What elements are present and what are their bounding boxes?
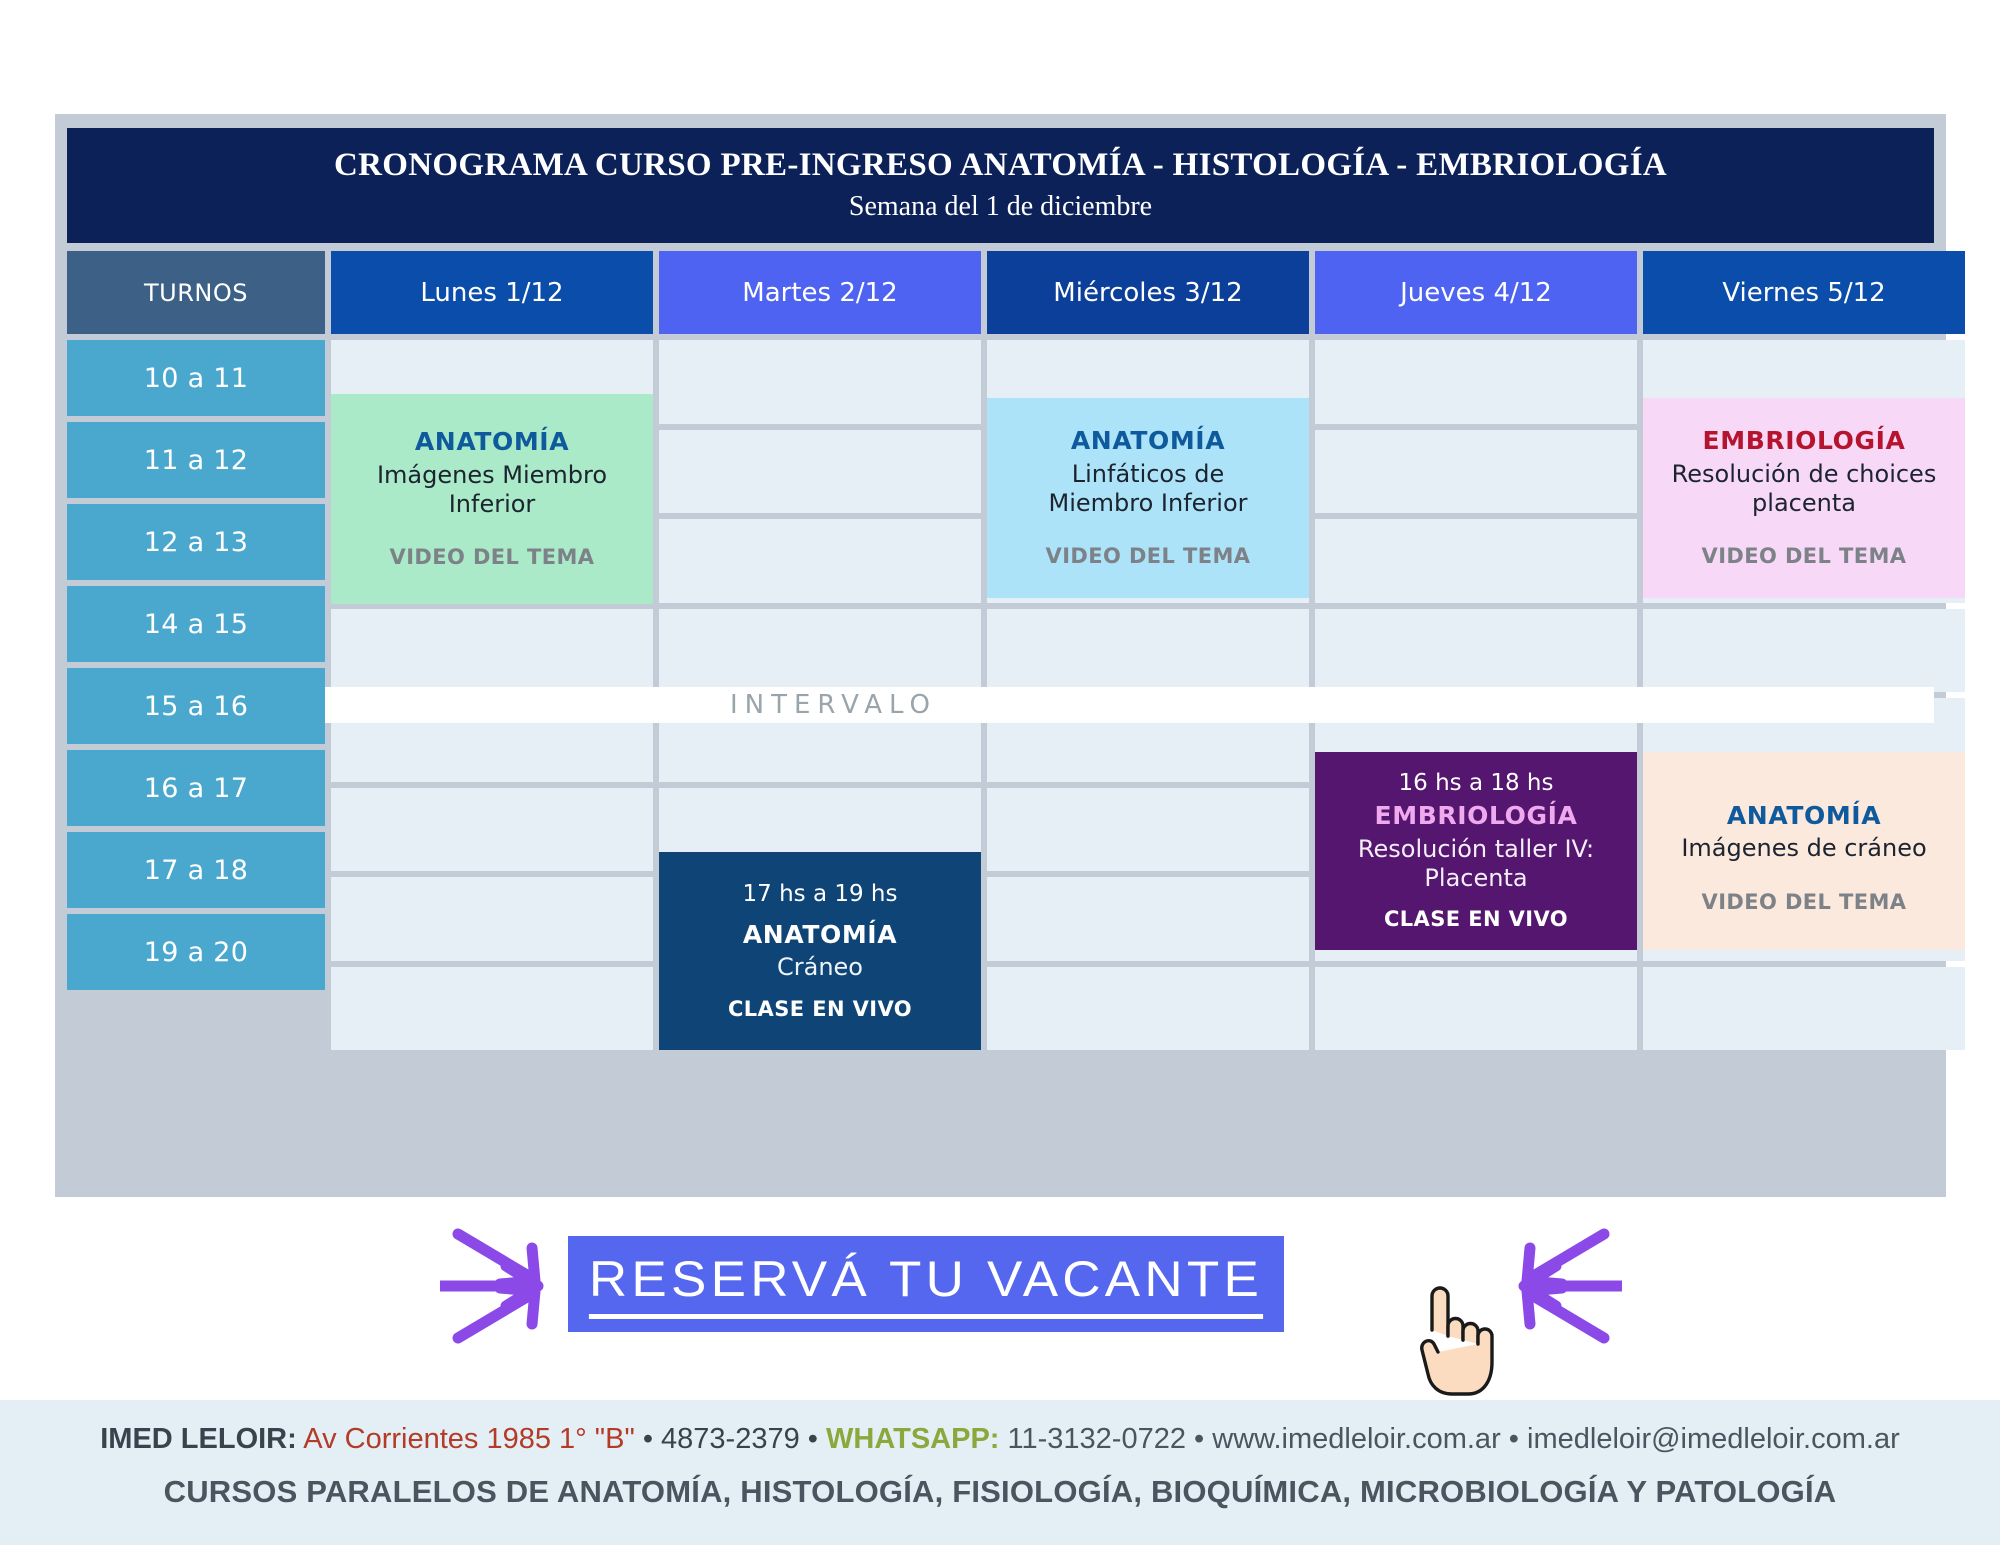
- event-topic-line-2: Inferior: [449, 490, 536, 519]
- empty-cell[interactable]: [1315, 519, 1637, 603]
- hand-pointer-icon: [1408, 1286, 1494, 1396]
- empty-cell[interactable]: [987, 609, 1309, 693]
- time-slot: 16 a 17: [67, 750, 325, 826]
- column-header-turnos: TURNOS: [67, 251, 325, 334]
- time-slot: 15 a 16: [67, 668, 325, 744]
- schedule-frame: CRONOGRAMA CURSO PRE-INGRESO ANATOMÍA - …: [55, 114, 1946, 1197]
- event-time-range: 17 hs a 19 hs: [743, 880, 898, 908]
- empty-cell[interactable]: [659, 340, 981, 424]
- footer-courses-line: CURSOS PARALELOS DE ANATOMÍA, HISTOLOGÍA…: [0, 1474, 2000, 1510]
- event-subject: ANATOMÍA: [415, 427, 569, 458]
- event-topic-line-2: Placenta: [1424, 864, 1527, 893]
- event-topic-line-1: Linfáticos de: [1072, 460, 1225, 489]
- event-topic-line-1: Cráneo: [777, 953, 863, 982]
- event-topic-line-1: Imágenes de cráneo: [1681, 834, 1926, 863]
- footer-whatsapp-label: WHATSAPP:: [826, 1423, 999, 1455]
- arrows-pointing-left-icon: [1492, 1226, 1622, 1346]
- empty-cell[interactable]: [987, 788, 1309, 872]
- arrows-pointing-right-icon: [440, 1226, 570, 1346]
- pointing-hand-cursor: [1408, 1286, 1494, 1400]
- empty-cell[interactable]: [987, 967, 1309, 1051]
- time-slot: 10 a 11: [67, 340, 325, 416]
- column-header-jueves[interactable]: Jueves 4/12: [1315, 251, 1637, 334]
- empty-cell[interactable]: [1315, 967, 1637, 1051]
- event-topic-line-2: placenta: [1752, 489, 1856, 518]
- event-tag-video[interactable]: VIDEO DEL TEMA: [390, 545, 595, 571]
- event-topic-line-1: Resolución de choices: [1672, 460, 1937, 489]
- footer-website[interactable]: www.imedleloir.com.ar: [1212, 1423, 1500, 1455]
- cta-section: RESERVÁ TU VACANTE: [0, 1218, 2000, 1388]
- empty-cell[interactable]: [331, 788, 653, 872]
- event-subject: ANATOMÍA: [1727, 801, 1881, 832]
- event-tag-video[interactable]: VIDEO DEL TEMA: [1702, 544, 1907, 570]
- event-subject: ANATOMÍA: [1071, 426, 1225, 457]
- event-card-jueves-embriologia[interactable]: 16 hs a 18 hs EMBRIOLOGÍA Resolución tal…: [1315, 752, 1637, 950]
- schedule-grid: TURNOS Lunes 1/12 Martes 2/12 Miércoles …: [67, 251, 1934, 1050]
- arrow-right-group: [1492, 1226, 1622, 1350]
- empty-cell[interactable]: [659, 609, 981, 693]
- time-slot: 12 a 13: [67, 504, 325, 580]
- event-subject: EMBRIOLOGÍA: [1703, 426, 1906, 457]
- empty-cell[interactable]: [1315, 609, 1637, 693]
- footer-bar: IMED LELOIR: Av Corrientes 1985 1° "B" •…: [0, 1400, 2000, 1545]
- event-tag-live[interactable]: CLASE EN VIVO: [1384, 907, 1568, 933]
- arrow-left-group: [440, 1226, 570, 1350]
- footer-separator-2: •: [808, 1423, 818, 1455]
- footer-contact-line: IMED LELOIR: Av Corrientes 1985 1° "B" •…: [0, 1423, 2000, 1456]
- time-slot: 17 a 18: [67, 832, 325, 908]
- page-title: CRONOGRAMA CURSO PRE-INGRESO ANATOMÍA - …: [334, 147, 1667, 183]
- footer-separator-4: •: [1509, 1423, 1519, 1455]
- footer-separator-1: •: [643, 1423, 653, 1455]
- reserve-vacancy-button[interactable]: RESERVÁ TU VACANTE: [568, 1236, 1284, 1332]
- empty-cell[interactable]: [331, 967, 653, 1051]
- event-subject: ANATOMÍA: [743, 920, 897, 951]
- footer-phone[interactable]: 4873-2379: [661, 1423, 800, 1455]
- event-tag-video[interactable]: VIDEO DEL TEMA: [1046, 544, 1251, 570]
- time-slot-column: 10 a 11 11 a 12 12 a 13 14 a 15 15 a 16 …: [67, 340, 325, 990]
- empty-cell[interactable]: [659, 519, 981, 603]
- event-topic-line-1: Resolución taller IV:: [1358, 835, 1594, 864]
- event-topic-line-2: Miembro Inferior: [1049, 489, 1248, 518]
- event-topic-line-1: Imágenes Miembro: [377, 461, 607, 490]
- interval-band: INTERVALO: [325, 687, 1934, 723]
- column-header-lunes[interactable]: Lunes 1/12: [331, 251, 653, 334]
- event-time-range: 16 hs a 18 hs: [1399, 769, 1554, 797]
- footer-address: Av Corrientes 1985 1° "B": [303, 1423, 635, 1455]
- empty-cell[interactable]: [1315, 340, 1637, 424]
- empty-cell[interactable]: [331, 877, 653, 961]
- empty-cell[interactable]: [1643, 967, 1965, 1051]
- event-subject: EMBRIOLOGÍA: [1375, 801, 1578, 832]
- footer-email[interactable]: imedleloir@imedleloir.com.ar: [1527, 1423, 1900, 1455]
- event-card-viernes-anatomia[interactable]: ANATOMÍA Imágenes de cráneo VIDEO DEL TE…: [1643, 752, 1965, 950]
- cta-button-label: RESERVÁ TU VACANTE: [589, 1250, 1263, 1319]
- column-header-martes[interactable]: Martes 2/12: [659, 251, 981, 334]
- time-slot: 19 a 20: [67, 914, 325, 990]
- footer-whatsapp-number[interactable]: 11-3132-0722: [1008, 1423, 1186, 1455]
- empty-cell[interactable]: [987, 877, 1309, 961]
- footer-separator-3: •: [1194, 1423, 1204, 1455]
- event-tag-live[interactable]: CLASE EN VIVO: [728, 997, 912, 1023]
- event-tag-video[interactable]: VIDEO DEL TEMA: [1702, 890, 1907, 916]
- empty-cell[interactable]: [331, 609, 653, 693]
- schedule-title-bar: CRONOGRAMA CURSO PRE-INGRESO ANATOMÍA - …: [67, 128, 1934, 243]
- event-card-miercoles-anatomia[interactable]: ANATOMÍA Linfáticos de Miembro Inferior …: [987, 398, 1309, 598]
- footer-brand: IMED LELOIR:: [100, 1423, 297, 1455]
- event-card-lunes-anatomia[interactable]: ANATOMÍA Imágenes Miembro Inferior VIDEO…: [331, 394, 653, 604]
- column-header-viernes[interactable]: Viernes 5/12: [1643, 251, 1965, 334]
- interval-label: INTERVALO: [730, 690, 937, 720]
- column-header-miercoles[interactable]: Miércoles 3/12: [987, 251, 1309, 334]
- event-card-viernes-embriologia[interactable]: EMBRIOLOGÍA Resolución de choices placen…: [1643, 398, 1965, 598]
- empty-cell[interactable]: [1643, 609, 1965, 693]
- page-subtitle: Semana del 1 de diciembre: [849, 190, 1152, 224]
- event-card-martes-anatomia[interactable]: 17 hs a 19 hs ANATOMÍA Cráneo CLASE EN V…: [659, 852, 981, 1050]
- time-slot: 11 a 12: [67, 422, 325, 498]
- empty-cell[interactable]: [659, 430, 981, 514]
- empty-cell[interactable]: [1315, 430, 1637, 514]
- time-slot: 14 a 15: [67, 586, 325, 662]
